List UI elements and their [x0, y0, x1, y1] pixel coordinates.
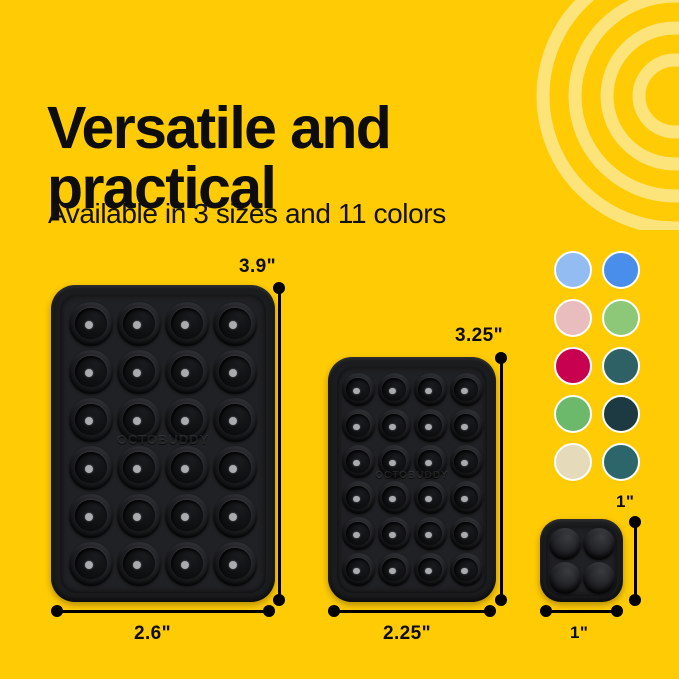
suction-cup [450, 409, 483, 442]
medium-height-dimension-line [500, 358, 503, 600]
suction-cup [117, 302, 161, 346]
dimension-dot [629, 516, 641, 528]
swatch-cell[interactable] [597, 246, 645, 294]
swatch-cell[interactable] [549, 342, 597, 390]
dimension-dot [263, 605, 275, 617]
suction-cup [378, 373, 411, 406]
medium-height-label: 3.25" [455, 325, 503, 347]
small-height-label: 1" [616, 492, 634, 512]
dimension-dot [51, 605, 63, 617]
suction-cup [165, 398, 209, 442]
color-swatch-medium-green[interactable] [554, 395, 592, 433]
suction-cup [414, 553, 447, 586]
suction-cup [342, 409, 375, 442]
subtitle: Available in 3 sizes and 11 colors [48, 198, 446, 230]
color-swatch-bright-blue[interactable] [602, 251, 640, 289]
swatch-cell[interactable] [549, 438, 597, 486]
suction-cup [378, 553, 411, 586]
color-swatch-cream[interactable] [554, 443, 592, 481]
suction-cup [117, 398, 161, 442]
suction-cup [69, 446, 113, 490]
medium-width-label: 2.25" [383, 623, 431, 645]
dimension-dot [328, 605, 340, 617]
color-swatch-dark-slate[interactable] [602, 395, 640, 433]
suction-cup [117, 494, 161, 538]
swatch-cell[interactable] [549, 294, 597, 342]
suction-cup [342, 481, 375, 514]
headline-line-1: Versatile and [47, 98, 607, 158]
dimension-dot [484, 605, 496, 617]
color-swatch-magenta[interactable] [554, 347, 592, 385]
suction-cup [342, 517, 375, 550]
dimension-dot [540, 605, 552, 617]
color-swatch-teal[interactable] [602, 347, 640, 385]
swatch-cell[interactable] [549, 246, 597, 294]
dimension-dot [629, 594, 641, 606]
swatch-cell[interactable] [597, 294, 645, 342]
suction-cup [117, 446, 161, 490]
large-height-label: 3.9" [239, 256, 276, 278]
small-width-label: 1" [570, 623, 588, 643]
small-suction-pad [540, 519, 623, 602]
color-swatch-light-green[interactable] [602, 299, 640, 337]
medium-width-dimension-line [334, 610, 490, 613]
small-pad-surface [546, 525, 617, 596]
suction-cup [414, 517, 447, 550]
suction-cup [213, 302, 257, 346]
dimension-dot [495, 352, 507, 364]
color-swatch-light-blue[interactable] [554, 251, 592, 289]
large-width-label: 2.6" [134, 623, 171, 645]
suction-cup [213, 542, 257, 586]
small-height-dimension-line [634, 522, 637, 600]
suction-cup [414, 373, 447, 406]
color-swatch-grid [549, 246, 645, 486]
suction-cup [342, 373, 375, 406]
dimension-dot [495, 594, 507, 606]
suction-cup [450, 481, 483, 514]
suction-cup [378, 517, 411, 550]
suction-cup [549, 528, 581, 560]
dimension-dot [273, 594, 285, 606]
suction-cup [165, 350, 209, 394]
suction-cup [583, 562, 615, 594]
swatch-cell[interactable] [597, 390, 645, 438]
suction-cup [213, 494, 257, 538]
suction-cup [414, 445, 447, 478]
suction-cup [378, 445, 411, 478]
suction-cup [583, 528, 615, 560]
suction-cup [69, 350, 113, 394]
suction-cup [450, 553, 483, 586]
suction-cup [450, 373, 483, 406]
small-width-dimension-line [546, 610, 617, 613]
swatch-cell[interactable] [597, 438, 645, 486]
dimension-dot [611, 605, 623, 617]
suction-cup [342, 445, 375, 478]
suction-cup [165, 302, 209, 346]
suction-cup [69, 302, 113, 346]
dimension-dot [273, 282, 285, 294]
suction-cup [117, 350, 161, 394]
suction-cup [165, 542, 209, 586]
large-height-dimension-line [278, 288, 281, 600]
suction-cup [414, 481, 447, 514]
suction-cup [213, 350, 257, 394]
large-pad-surface [60, 294, 266, 593]
medium-suction-pad: OCTOBUDDY [328, 357, 496, 602]
suction-cup [378, 481, 411, 514]
infographic-canvas: Versatile and practical Available in 3 s… [0, 0, 679, 679]
suction-cup [165, 494, 209, 538]
suction-cup [117, 542, 161, 586]
color-swatch-deep-teal[interactable] [602, 443, 640, 481]
swatch-cell[interactable] [597, 342, 645, 390]
suction-cup [69, 542, 113, 586]
suction-cup [342, 553, 375, 586]
color-swatch-blush-pink[interactable] [554, 299, 592, 337]
suction-cup [213, 398, 257, 442]
suction-cup [414, 409, 447, 442]
suction-cup [213, 446, 257, 490]
suction-cup [450, 517, 483, 550]
suction-cup [378, 409, 411, 442]
suction-cup [69, 398, 113, 442]
swatch-cell[interactable] [549, 390, 597, 438]
suction-cup [450, 445, 483, 478]
large-suction-pad: OCTOBUDDY [51, 285, 275, 602]
large-width-dimension-line [57, 610, 269, 613]
medium-pad-surface [337, 366, 487, 593]
suction-cup [549, 562, 581, 594]
suction-cup [165, 446, 209, 490]
suction-cup [69, 494, 113, 538]
